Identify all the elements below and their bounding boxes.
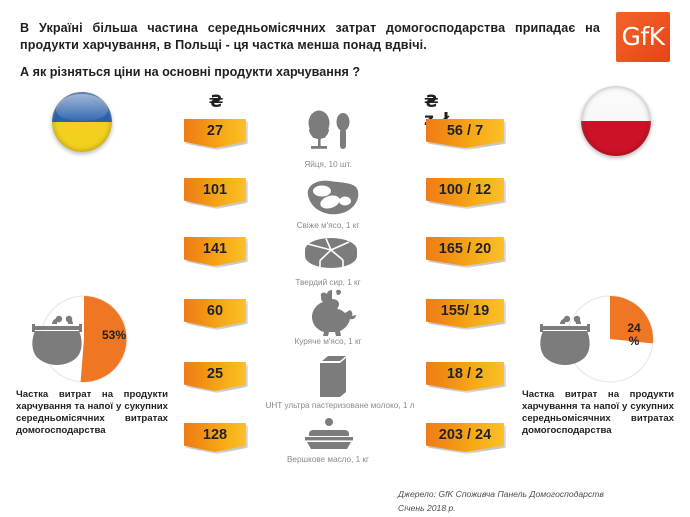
- product-label-cheese: Твердий сир, 1 кг: [268, 278, 388, 288]
- hard-cheese-wheel-icon: [302, 234, 360, 276]
- product-label-chicken: Куряче м'ясо, 1 кг: [268, 337, 388, 347]
- product-label-butter: Вершкове масло, 1 кг: [268, 455, 388, 465]
- gfk-logo: GfK: [616, 12, 670, 62]
- ukraine-share-pie: [14, 294, 164, 384]
- product-label-meat: Свіже м'ясо, 1 кг: [268, 221, 388, 231]
- product-label-eggs: Яйця, 10 шт.: [268, 160, 388, 170]
- ukraine-currency-header: ₴: [196, 93, 236, 111]
- headline-text: В Україні більша частина середньомісячни…: [20, 20, 600, 54]
- subheadline-text: А як різняться ціни на основні продукти …: [20, 64, 580, 80]
- poland-share-chart: 24 %: [520, 294, 680, 384]
- ua-flag-rim: [52, 92, 112, 152]
- egg-in-cup-and-spoon-icon: [298, 110, 358, 158]
- ukraine-flag-icon: [52, 92, 112, 152]
- footer-source: Джерело: GfK Споживча Панель Домогоспода…: [398, 489, 604, 499]
- pl-flag-rim: [581, 86, 651, 156]
- poland-share-percent-sign: %: [619, 335, 649, 348]
- ukraine-share-percent: 53%: [94, 329, 134, 342]
- poland-share-pie: [520, 294, 680, 384]
- product-label-milk: UHT ультра пастеризоване молоко, 1 л: [240, 401, 440, 411]
- gfk-wordmark: GfK: [616, 22, 670, 51]
- poland-flag-icon: [581, 86, 651, 156]
- ukraine-share-caption: Частка витрат на продукти харчування та …: [16, 389, 168, 437]
- poland-share-caption: Частка витрат на продукти харчування та …: [522, 389, 674, 437]
- milk-carton-icon: [310, 352, 354, 400]
- ukraine-share-chart: 53%: [14, 294, 164, 384]
- infographic-root: В Україні більша частина середньомісячни…: [0, 0, 690, 517]
- fresh-meat-steak-icon: [300, 178, 362, 218]
- chicken-icon: [306, 288, 358, 336]
- butter-dish-icon: [300, 418, 358, 452]
- footer-period: Січень 2018 р.: [398, 503, 456, 513]
